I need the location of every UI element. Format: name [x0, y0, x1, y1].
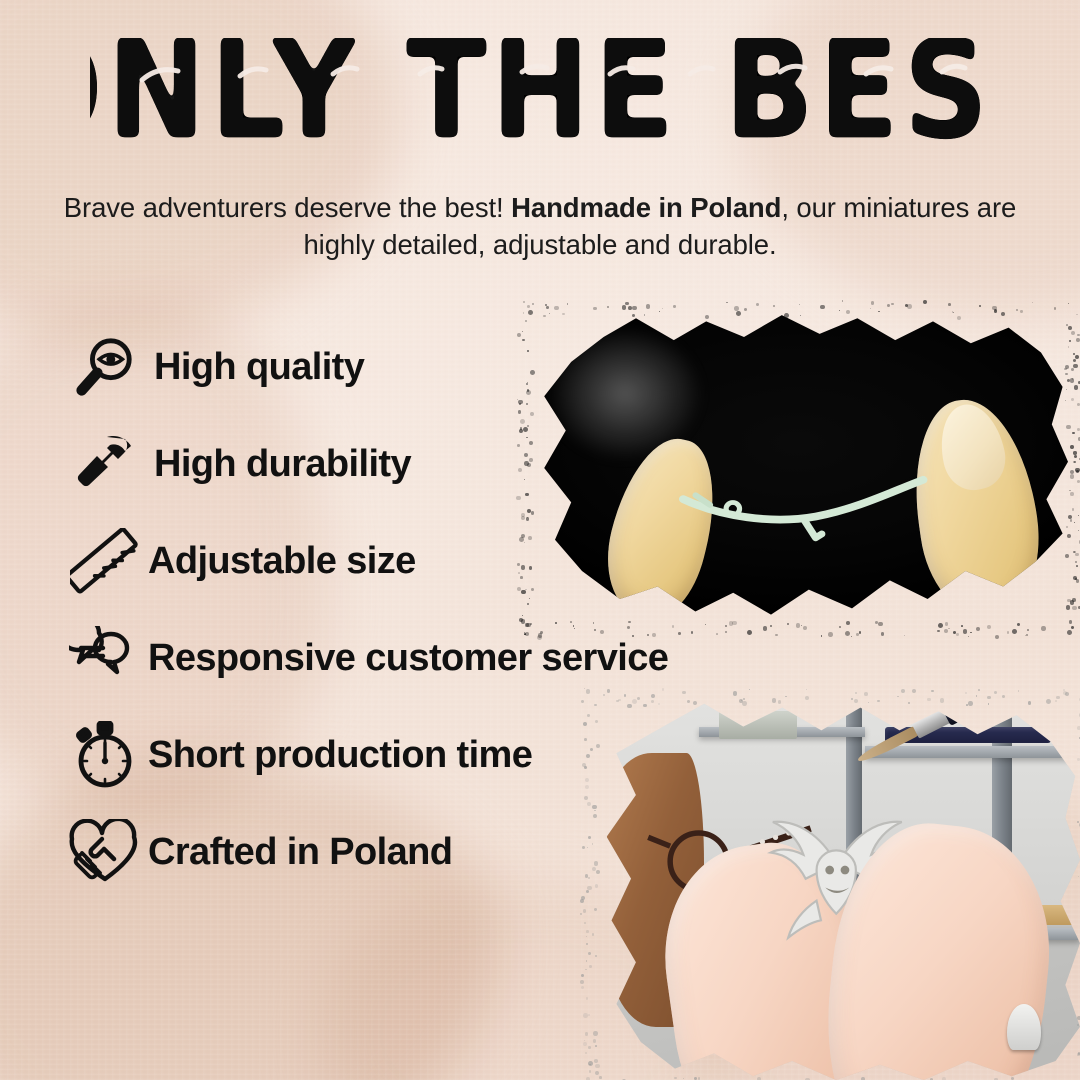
torn-speckle: [1078, 876, 1079, 877]
torn-speckle: [1055, 700, 1058, 703]
list-item-label: Crafted in Poland: [148, 831, 452, 874]
torn-speckle: [953, 312, 955, 314]
list-item-label: Responsive customer service: [148, 637, 668, 680]
torn-speckle: [1065, 373, 1068, 376]
stopwatch-icon: [62, 718, 148, 792]
torn-speckle: [854, 699, 858, 703]
list-item-label: High durability: [154, 443, 411, 486]
torn-speckle: [878, 311, 879, 312]
magnifier-eye-icon: [62, 330, 148, 404]
torn-speckle: [1028, 701, 1031, 704]
torn-speckle: [549, 313, 551, 315]
torn-speckle: [988, 703, 990, 705]
torn-speckle: [1046, 699, 1051, 704]
torn-speckle: [908, 702, 910, 704]
torn-speckle: [594, 908, 597, 911]
torn-speckle: [632, 314, 635, 317]
torn-speckle: [966, 704, 968, 706]
subtitle-bold: Handmade in Poland: [511, 192, 781, 223]
torn-speckle: [543, 315, 546, 318]
torn-speckle: [592, 933, 594, 935]
torn-speckle: [736, 311, 741, 316]
torn-speckle: [1066, 324, 1068, 326]
torn-speckle: [1001, 312, 1005, 316]
torn-speckle: [595, 955, 597, 957]
torn-speckle: [877, 700, 880, 703]
tool-handle: [940, 700, 1002, 726]
torn-speckle: [562, 313, 565, 316]
list-item-label: Short production time: [148, 734, 532, 777]
torn-speckle: [1077, 1053, 1080, 1056]
torn-speckle: [800, 315, 801, 316]
list-item: Short production time: [62, 718, 802, 792]
chat-bubbles-icon: [62, 621, 148, 695]
list-item-label: Adjustable size: [148, 540, 416, 583]
list-item-label: High quality: [154, 346, 364, 389]
torn-speckle: [1066, 526, 1068, 528]
torn-speckle: [868, 702, 869, 703]
headline-text: ONLY THE BEST: [90, 38, 990, 163]
torn-speckle: [952, 311, 953, 312]
list-item: Adjustable size: [62, 524, 802, 598]
torn-speckle: [705, 315, 709, 319]
list-item: High quality: [62, 330, 802, 404]
torn-speckle: [595, 1045, 597, 1047]
handshake-heart-icon: [62, 815, 148, 889]
torn-speckle: [599, 1076, 602, 1079]
hammer-icon: [62, 427, 148, 501]
subtitle: Brave adventurers deserve the best! Hand…: [60, 190, 1020, 263]
torn-speckle: [595, 1071, 599, 1075]
torn-speckle: [861, 1077, 865, 1080]
list-item: Crafted in Poland: [62, 815, 802, 889]
list-item: Responsive customer service: [62, 621, 802, 695]
ruler-icon: [62, 524, 148, 598]
page-title: ONLY THE BEST: [0, 38, 1080, 163]
feature-list: High quality High durability: [62, 330, 802, 889]
torn-speckle: [674, 1077, 677, 1080]
torn-speckle: [594, 1059, 598, 1063]
torn-speckle: [1011, 1077, 1015, 1080]
torn-speckle: [1065, 400, 1066, 401]
torn-speckle: [593, 1031, 598, 1036]
torn-speckle: [1077, 758, 1080, 761]
torn-speckle: [698, 1077, 701, 1080]
torn-speckle: [593, 1039, 596, 1042]
subtitle-lead: Brave adventurers deserve the best!: [64, 192, 511, 223]
torn-speckle: [1077, 821, 1079, 823]
torn-speckle: [683, 1078, 684, 1079]
torn-speckle: [875, 621, 878, 624]
torn-speckle: [644, 314, 646, 316]
list-item: High durability: [62, 427, 802, 501]
torn-speckle: [595, 1064, 599, 1068]
promotional-poster: ONLY THE BEST Brave adventurers deserve …: [0, 0, 1080, 1080]
torn-speckle: [1066, 389, 1068, 391]
torn-speckle: [1064, 368, 1067, 371]
torn-speckle: [968, 701, 973, 706]
torn-speckle: [957, 316, 962, 321]
